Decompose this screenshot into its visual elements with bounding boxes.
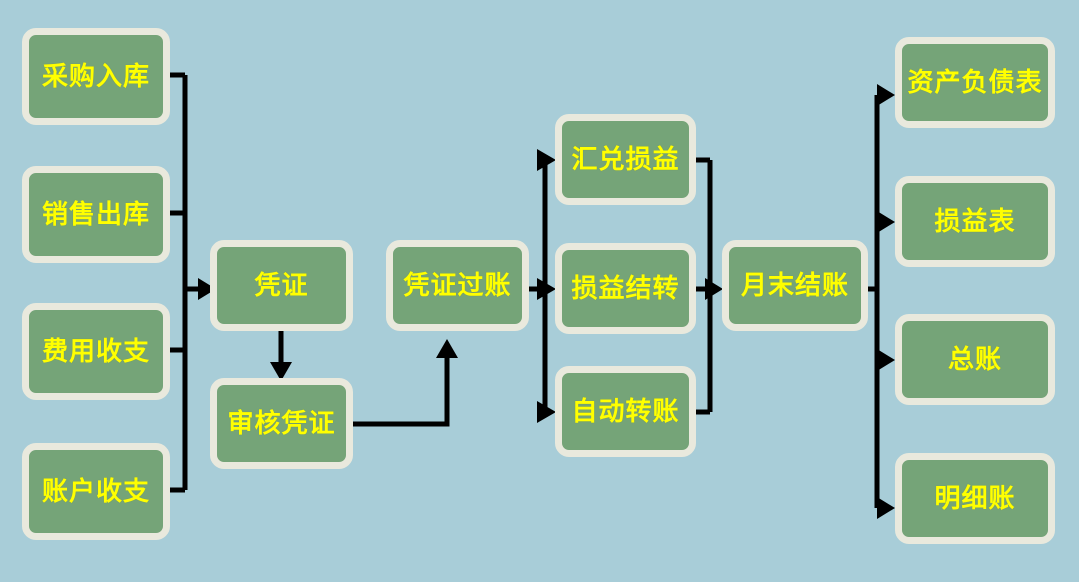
arrowhead-to-post [436,339,458,358]
arrowhead-to-pl [537,278,556,300]
arrowhead-to-close [705,278,723,300]
node-voucher[interactable]: 凭证 [210,240,353,331]
node-sub-ledger[interactable]: 明细账 [895,453,1055,544]
node-income-stmt[interactable]: 损益表 [895,176,1055,267]
node-voucher-post[interactable]: 凭证过账 [386,240,529,331]
node-balance-sheet[interactable]: 资产负债表 [895,37,1055,128]
node-auto-transfer[interactable]: 自动转账 [555,366,696,457]
node-general-ledger[interactable]: 总账 [895,314,1055,405]
node-voucher-audit[interactable]: 审核凭证 [210,378,353,469]
arrowhead-to-general-ledger [877,349,895,371]
connector-audit-to-post [353,358,447,424]
node-purchase-in[interactable]: 采购入库 [22,28,170,125]
arrowhead-to-fx [537,149,556,171]
node-account-io[interactable]: 账户收支 [22,443,170,540]
arrowhead-to-balance-sheet [877,84,895,106]
arrowhead-to-sub-ledger [877,497,895,519]
node-fx-gain-loss[interactable]: 汇兑损益 [555,114,696,205]
node-sales-out[interactable]: 销售出库 [22,166,170,263]
arrowhead-to-income-stmt [877,211,895,233]
node-pl-carryover[interactable]: 损益结转 [555,243,696,334]
arrowhead-to-auto [537,401,556,423]
node-month-end-close[interactable]: 月末结账 [722,240,868,331]
flowchart-canvas: 采购入库 销售出库 费用收支 账户收支 凭证 审核凭证 凭证过账 汇兑损益 损益… [0,0,1079,582]
node-expense-io[interactable]: 费用收支 [22,303,170,400]
